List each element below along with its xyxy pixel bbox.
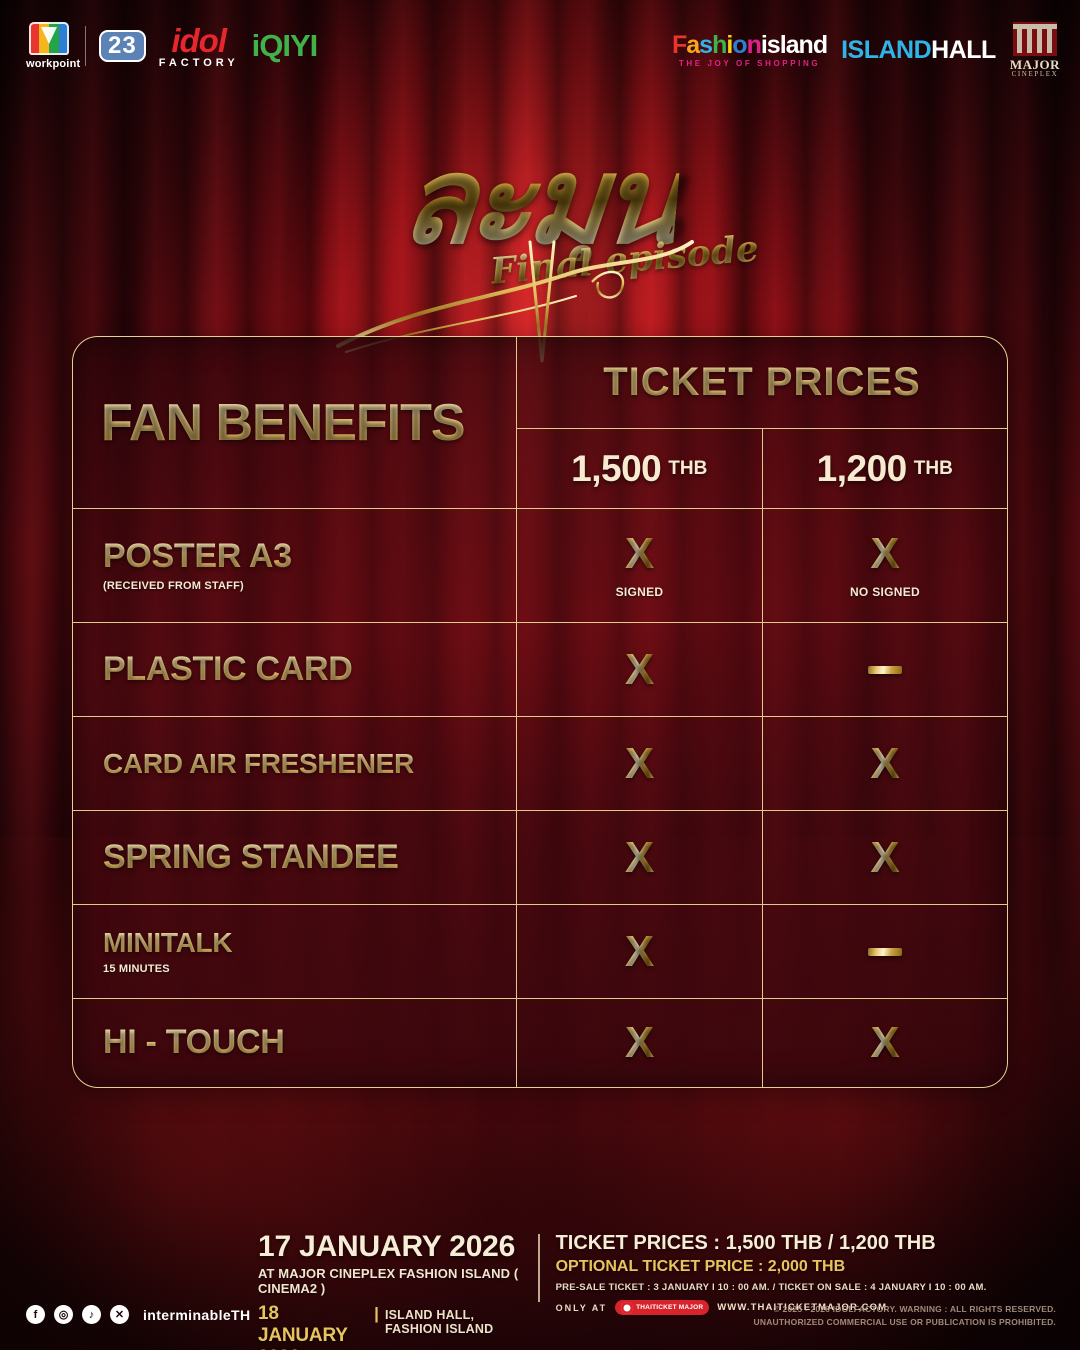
event-date-primary: 17 JANUARY 2026 — [258, 1231, 522, 1263]
cell-note: SIGNED — [616, 585, 664, 599]
workpoint-mark-icon — [29, 22, 69, 55]
check-mark-icon: X — [870, 836, 899, 880]
check-mark-icon: X — [625, 532, 654, 576]
facebook-icon[interactable]: f — [26, 1305, 45, 1324]
event-venue-primary: AT MAJOR CINEPLEX FASHION ISLAND ( CINEM… — [258, 1266, 522, 1296]
ticket-prices-header-group: TICKET PRICES 1,500 THB 1,200 THB — [517, 337, 1007, 508]
idol-factory-wordmark: idol — [159, 24, 239, 57]
copyright-line-2: UNAUTHORIZED COMMERCIAL USE OR PUBLICATI… — [754, 1316, 1056, 1328]
fashion-island-tagline: THE JOY OF SHOPPING — [672, 60, 827, 68]
island-hall-word1: ISLAND — [841, 36, 931, 64]
footer-info-bar: 17 JANUARY 2026 AT MAJOR CINEPLEX FASHIO… — [0, 1230, 1080, 1350]
header-right-logos: Fashionisland THE JOY OF SHOPPING ISLAND… — [672, 22, 1060, 78]
event-title-logo: ละมุน Final episode — [0, 96, 1080, 326]
benefit-label: PLASTIC CARD — [103, 652, 516, 688]
major-columns-icon — [1013, 22, 1057, 56]
workpoint-label: workpoint — [26, 58, 72, 70]
benefit-cell-1500: X — [517, 717, 763, 810]
price-column-headers: 1,500 THB 1,200 THB — [517, 429, 1007, 508]
major-cineplex-logo: MAJOR CINEPLEX — [1010, 22, 1060, 78]
island-hall-logo: ISLANDHALL — [841, 36, 996, 65]
workpoint-logo: workpoint — [26, 22, 72, 70]
idol-factory-logo: idol FACTORY — [159, 24, 239, 69]
tiktok-icon[interactable]: ♪ — [82, 1305, 101, 1324]
fan-benefits-table: FAN BENEFITS TICKET PRICES 1,500 THB 1,2… — [72, 336, 1008, 1088]
table-row: HI - TOUCH X X — [73, 999, 1007, 1087]
check-mark-icon: X — [625, 742, 654, 786]
table-row: PLASTIC CARD X — [73, 623, 1007, 717]
fan-benefits-title: FAN BENEFITS — [101, 397, 465, 449]
social-handle: interminableTH — [143, 1307, 251, 1323]
price-header-1500: 1,500 THB — [517, 429, 763, 508]
event-date-secondary: 18 JANUARY 2026 — [258, 1303, 368, 1350]
idol-factory-subtext: FACTORY — [159, 58, 239, 69]
table-header-row: FAN BENEFITS TICKET PRICES 1,500 THB 1,2… — [73, 337, 1007, 509]
footer-optional-price: OPTIONAL TICKET PRICE : 2,000 THB — [556, 1258, 987, 1276]
benefit-name-cell: MINITALK 15 MINUTES — [73, 905, 517, 998]
event-venue-secondary: ISLAND HALL, FASHION ISLAND — [385, 1308, 522, 1336]
benefit-name-cell: POSTER A3 (RECEIVED FROM STAFF) — [73, 509, 517, 622]
footer-date-block: 17 JANUARY 2026 AT MAJOR CINEPLEX FASHIO… — [258, 1231, 522, 1350]
benefit-cell-1500: X SIGNED — [517, 509, 763, 622]
ticket-prices-title: TICKET PRICES — [517, 337, 1007, 429]
benefit-name-cell: PLASTIC CARD — [73, 623, 517, 716]
copyright-notice: © 2025 - 2026 IDOLFACTORY. WARNING : ALL… — [754, 1303, 1056, 1328]
logo-divider — [85, 26, 86, 66]
benefit-cell-1500: X — [517, 905, 763, 998]
benefit-cell-1500: X — [517, 623, 763, 716]
ttm-wordmark: THAITICKET MAJOR — [636, 1304, 703, 1311]
only-at-label: ONLY AT — [556, 1303, 608, 1313]
check-mark-icon: X — [625, 836, 654, 880]
cell-note: NO SIGNED — [850, 585, 920, 599]
fashion-island-wordmark: Fashionisland — [672, 33, 827, 58]
check-mark-icon: X — [625, 930, 654, 974]
benefit-label: CARD AIR FRESHENER — [103, 749, 516, 778]
price-amount-1200: 1,200 — [817, 448, 907, 490]
benefit-sublabel: 15 MINUTES — [103, 963, 516, 975]
table-row: SPRING STANDEE X X — [73, 811, 1007, 905]
event-date-secondary-row: 18 JANUARY 2026 | ISLAND HALL, FASHION I… — [258, 1303, 522, 1350]
x-twitter-icon[interactable]: ✕ — [110, 1305, 129, 1324]
benefit-cell-1200: X — [763, 811, 1007, 904]
benefit-label: MINITALK — [103, 928, 516, 957]
footer-vertical-divider — [538, 1234, 540, 1302]
benefit-name-cell: HI - TOUCH — [73, 999, 517, 1087]
fashion-island-logo: Fashionisland THE JOY OF SHOPPING — [672, 33, 827, 68]
check-mark-icon: X — [870, 742, 899, 786]
price-currency-1200: THB — [914, 458, 953, 480]
social-media-bar: f ◎ ♪ ✕ interminableTH — [26, 1305, 251, 1324]
cineplex-wordmark: CINEPLEX — [1010, 71, 1060, 78]
benefit-cell-1200: X — [763, 717, 1007, 810]
ttm-ring-icon — [621, 1302, 633, 1314]
channel-23-logo: 23 — [99, 30, 146, 61]
footer-ticket-prices: TICKET PRICES : 1,500 THB / 1,200 THB — [556, 1232, 987, 1255]
island-hall-word2: HALL — [931, 36, 996, 64]
check-mark-icon: X — [870, 1021, 899, 1065]
benefit-cell-1200: X — [763, 999, 1007, 1087]
instagram-icon[interactable]: ◎ — [54, 1305, 73, 1324]
check-mark-icon: X — [625, 648, 654, 692]
check-mark-icon: X — [870, 532, 899, 576]
table-row: MINITALK 15 MINUTES X — [73, 905, 1007, 999]
check-mark-icon: X — [625, 1021, 654, 1065]
benefit-name-cell: CARD AIR FRESHENER — [73, 717, 517, 810]
benefit-label: HI - TOUCH — [103, 1025, 516, 1061]
not-included-dash-icon — [868, 666, 902, 674]
footer-presale-info: PRE-SALE TICKET : 3 JANUARY I 10 : 00 AM… — [556, 1282, 987, 1293]
header-left-logos: workpoint 23 idol FACTORY iQIYI — [26, 22, 317, 70]
not-included-dash-icon — [868, 948, 902, 956]
price-amount-1500: 1,500 — [571, 448, 661, 490]
benefit-label: SPRING STANDEE — [103, 840, 516, 876]
benefit-cell-1500: X — [517, 999, 763, 1087]
benefit-name-cell: SPRING STANDEE — [73, 811, 517, 904]
benefit-label: POSTER A3 — [103, 539, 516, 575]
benefit-cell-1500: X — [517, 811, 763, 904]
benefit-sublabel: (RECEIVED FROM STAFF) — [103, 580, 516, 592]
header-logo-bar: workpoint 23 idol FACTORY iQIYI Fashioni… — [0, 0, 1080, 92]
benefit-cell-1200 — [763, 623, 1007, 716]
table-row: CARD AIR FRESHENER X X — [73, 717, 1007, 811]
benefit-cell-1200: X NO SIGNED — [763, 509, 1007, 622]
thaiticketmajor-logo: THAITICKET MAJOR — [615, 1300, 709, 1315]
iqiyi-logo: iQIYI — [252, 28, 318, 64]
date-separator: | — [374, 1304, 379, 1324]
footer-main-block: 17 JANUARY 2026 AT MAJOR CINEPLEX FASHIO… — [258, 1231, 987, 1350]
fan-benefits-header-cell: FAN BENEFITS — [73, 337, 517, 508]
copyright-line-1: © 2025 - 2026 IDOLFACTORY. WARNING : ALL… — [754, 1303, 1056, 1315]
benefit-cell-1200 — [763, 905, 1007, 998]
price-currency-1500: THB — [668, 458, 707, 480]
price-header-1200: 1,200 THB — [763, 429, 1008, 508]
table-row: POSTER A3 (RECEIVED FROM STAFF) X SIGNED… — [73, 509, 1007, 623]
